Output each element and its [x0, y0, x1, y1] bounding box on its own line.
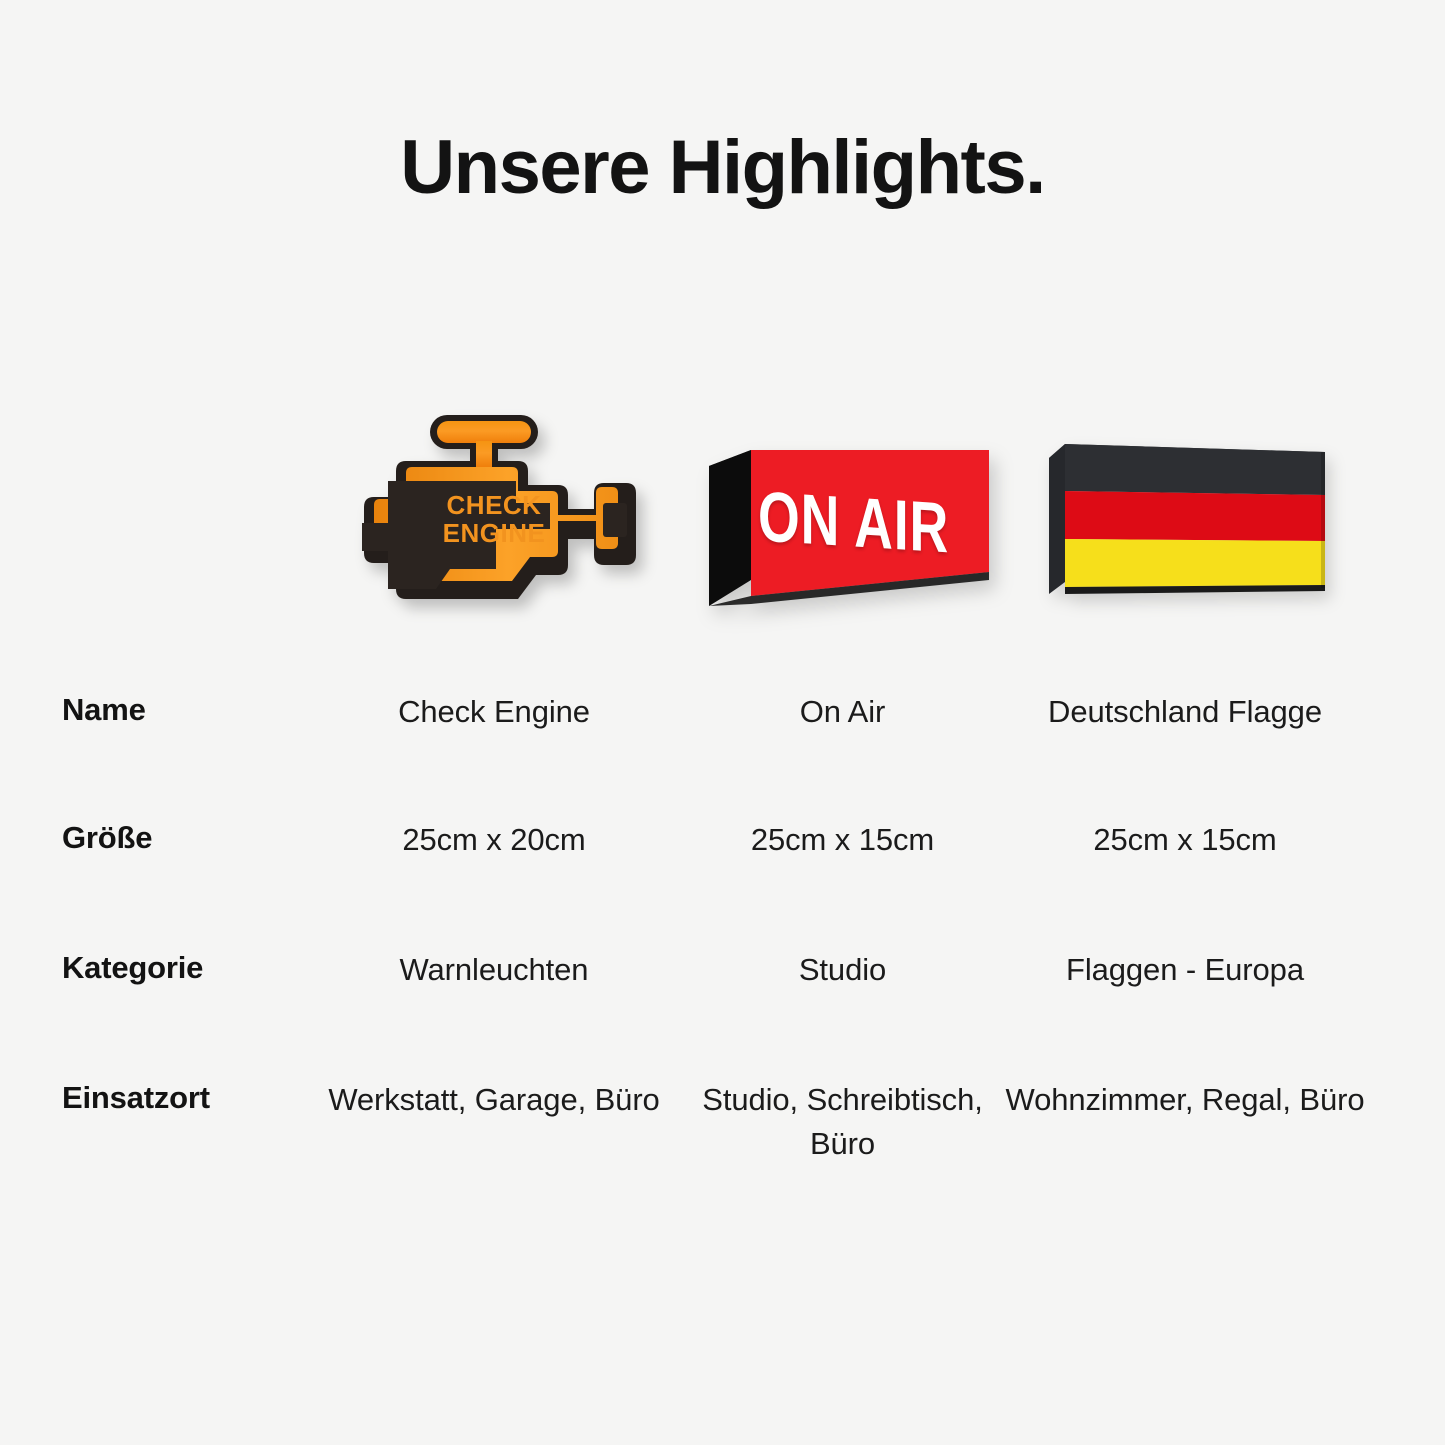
- product-image-row: CHECK ENGINE ON AIR: [0, 400, 1445, 650]
- check-engine-lightbox-image[interactable]: CHECK ENGINE: [344, 407, 644, 632]
- cell-name-check-engine: Check Engine: [288, 690, 700, 734]
- page-title: Unsere Highlights.: [0, 128, 1445, 208]
- product-image-check-engine[interactable]: CHECK ENGINE: [288, 400, 700, 650]
- row-label-einsatzort: Einsatzort: [0, 1078, 288, 1119]
- cell-einsatzort-deutschland-flagge: Wohnzimmer, Regal, Büro: [985, 1078, 1385, 1122]
- cell-kategorie-check-engine: Warnleuchten: [288, 948, 700, 992]
- cell-groesse-deutschland-flagge: 25cm x 15cm: [985, 818, 1385, 862]
- table-row-einsatzort: Einsatzort Werkstatt, Garage, Büro Studi…: [0, 1078, 1445, 1248]
- row-label-groesse: Größe: [0, 818, 288, 859]
- german-flag-box-icon: [1035, 428, 1335, 618]
- row-label-kategorie: Kategorie: [0, 948, 288, 989]
- deutschland-flagge-lightbox-image[interactable]: [1035, 428, 1335, 618]
- table-row-groesse: Größe 25cm x 20cm 25cm x 15cm 25cm x 15c…: [0, 818, 1445, 948]
- cell-kategorie-on-air: Studio: [700, 948, 985, 992]
- cell-name-deutschland-flagge: Deutschland Flagge: [985, 690, 1385, 734]
- table-row-kategorie: Kategorie Warnleuchten Studio Flaggen - …: [0, 948, 1445, 1078]
- cell-groesse-on-air: 25cm x 15cm: [700, 818, 985, 862]
- row-label-name: Name: [0, 690, 288, 731]
- cell-kategorie-deutschland-flagge: Flaggen - Europa: [985, 948, 1385, 992]
- cell-groesse-check-engine: 25cm x 20cm: [288, 818, 700, 862]
- product-image-deutschland-flagge[interactable]: [985, 400, 1385, 650]
- product-image-on-air[interactable]: ON AIR: [700, 400, 985, 650]
- on-air-lightbox-image[interactable]: ON AIR: [693, 430, 993, 620]
- on-air-box-icon: [693, 430, 993, 620]
- check-engine-icon: [344, 407, 644, 632]
- cell-name-on-air: On Air: [700, 690, 985, 734]
- cell-einsatzort-on-air: Studio, Schreibtisch, Büro: [700, 1078, 985, 1166]
- highlights-page: Unsere Highlights.: [0, 0, 1445, 1445]
- cell-einsatzort-check-engine: Werkstatt, Garage, Büro: [288, 1078, 700, 1122]
- table-row-name: Name Check Engine On Air Deutschland Fla…: [0, 690, 1445, 818]
- spec-table: Name Check Engine On Air Deutschland Fla…: [0, 690, 1445, 1248]
